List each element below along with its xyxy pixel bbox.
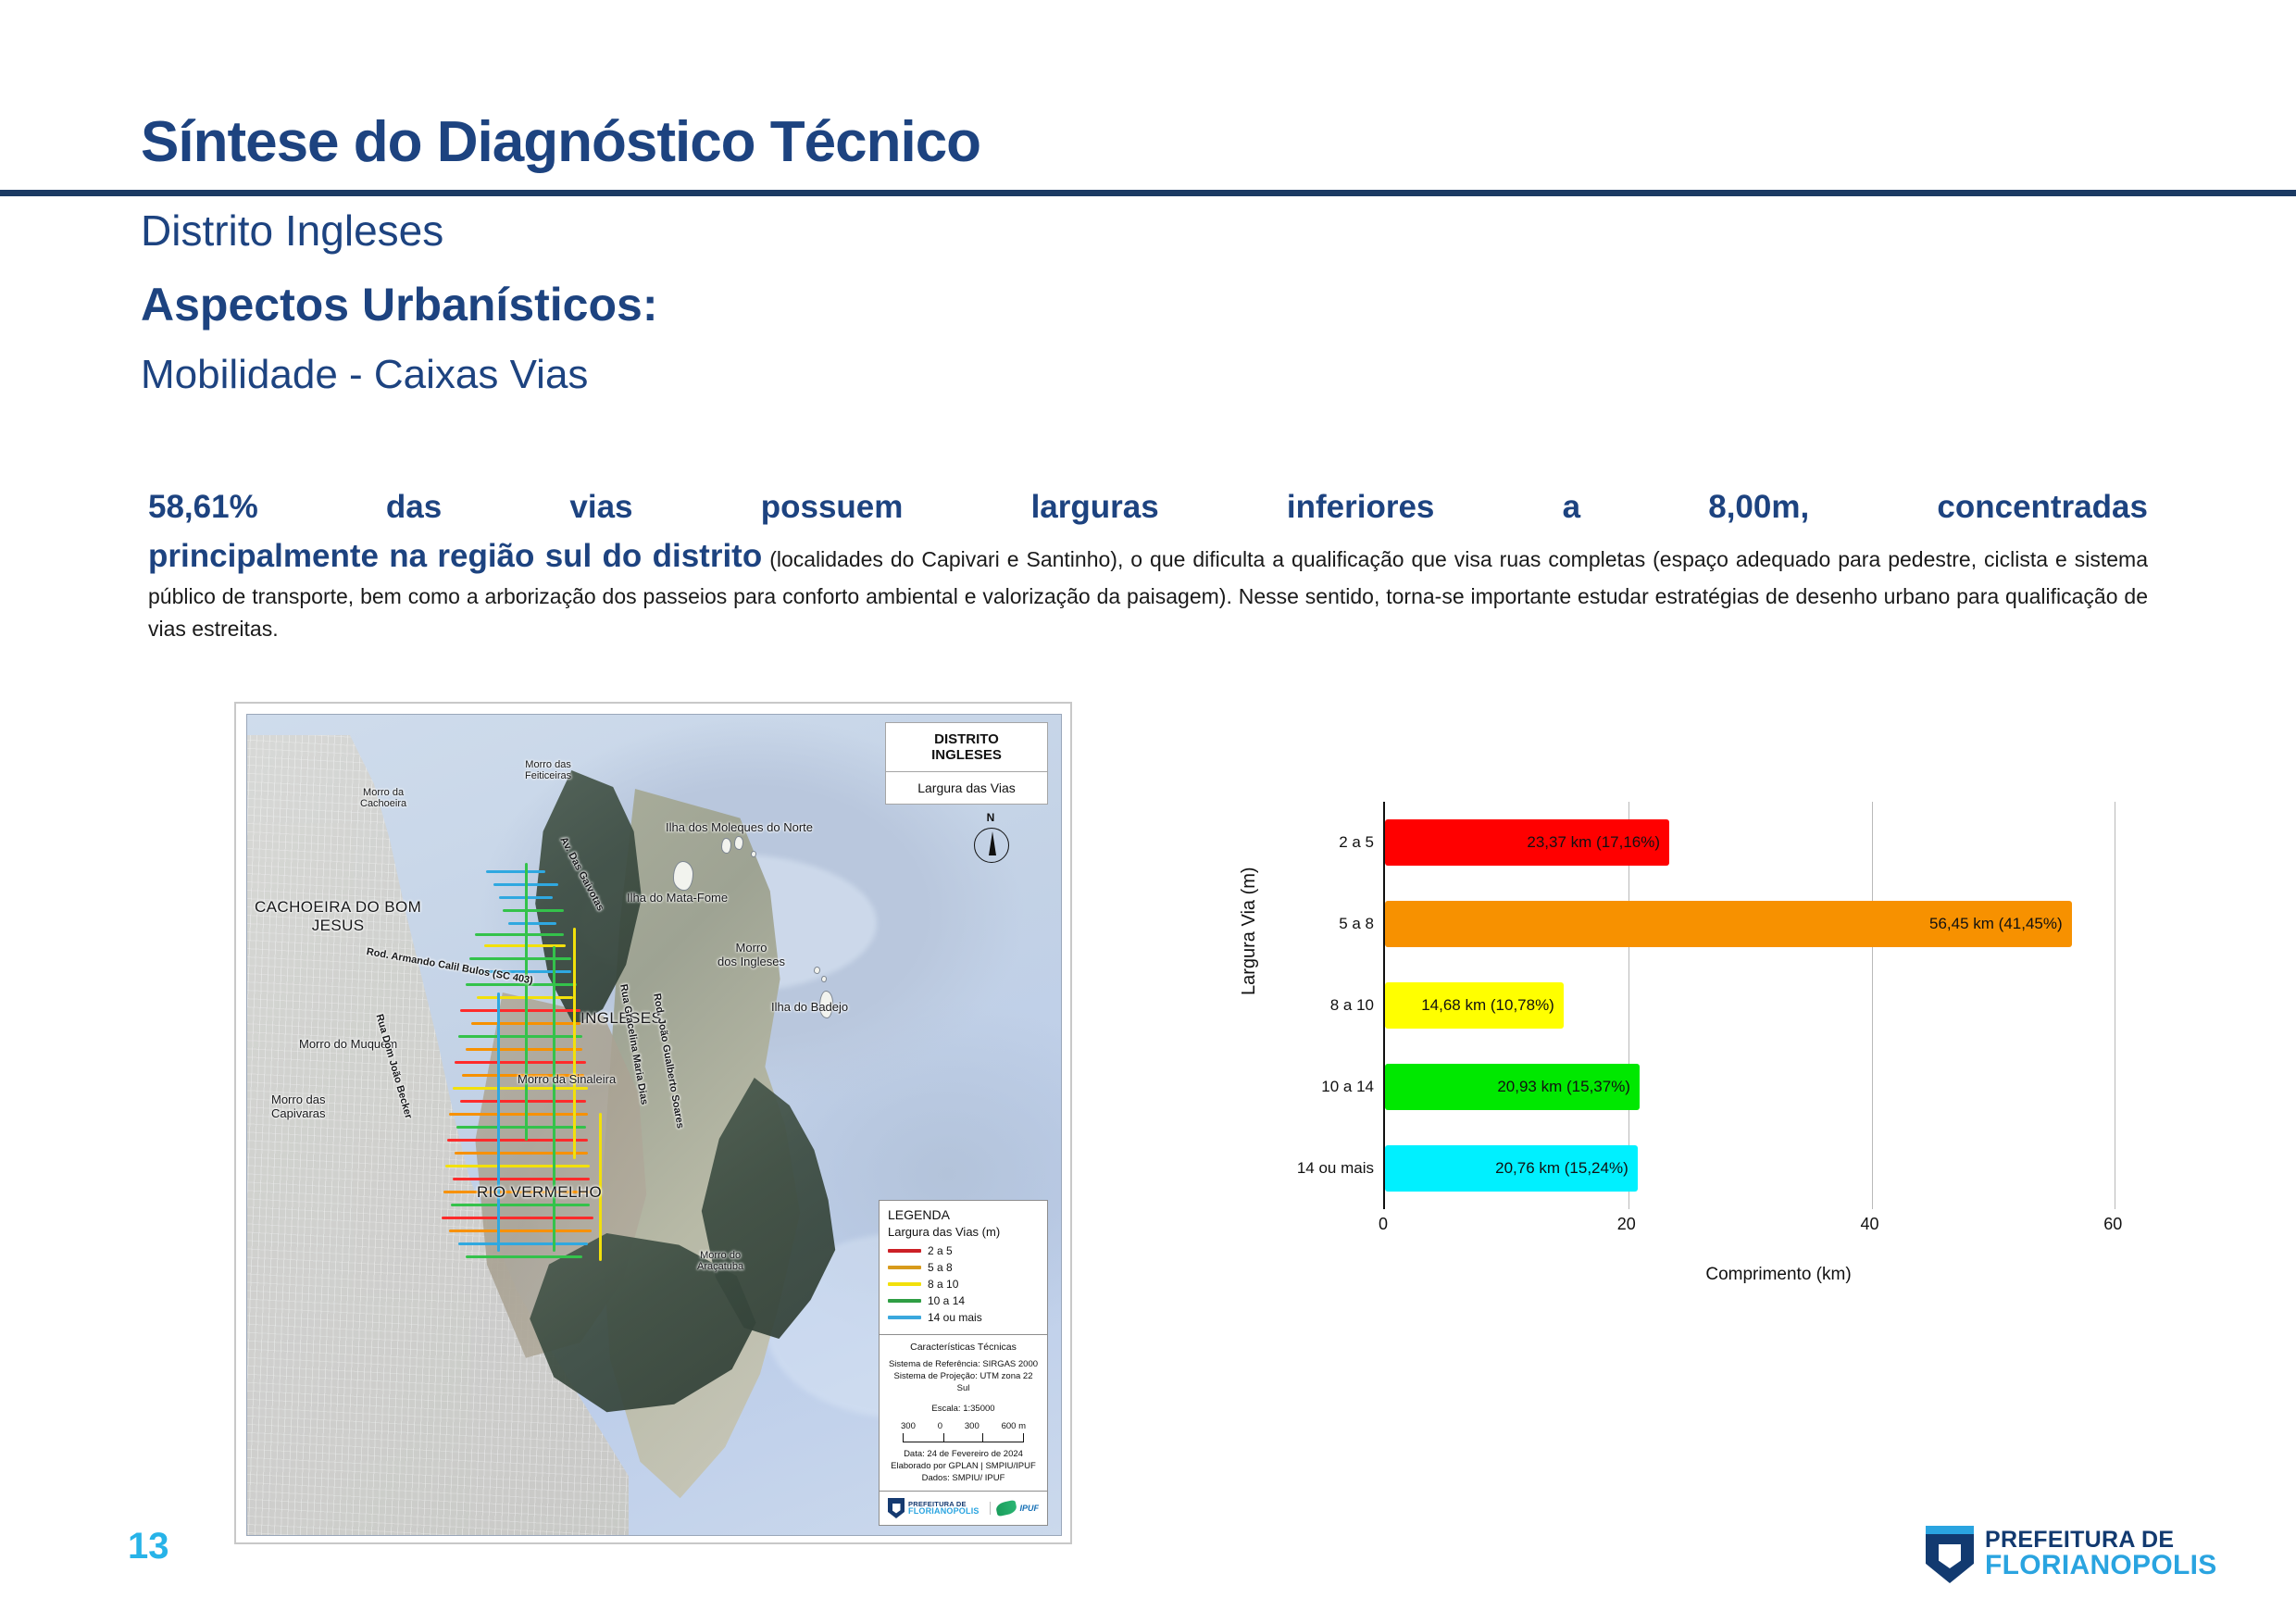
prefeitura-logo-line2: FLORIANOPOLIS bbox=[908, 1507, 980, 1516]
legend-technical-section: Características Técnicas Sistema de Refe… bbox=[880, 1335, 1047, 1492]
prefeitura-logo-text: PREFEITURA DE FLORIANOPOLIS bbox=[908, 1501, 980, 1517]
map-title: DISTRITO INGLESES bbox=[886, 723, 1047, 772]
legend-item: 5 a 8 bbox=[888, 1261, 1039, 1274]
section-subheading: Mobilidade - Caixas Vias bbox=[141, 352, 588, 398]
legend-color-swatch bbox=[888, 1316, 921, 1319]
map-title-box: DISTRITO INGLESES Largura das Vias bbox=[885, 722, 1048, 805]
legend-item-label: 10 a 14 bbox=[928, 1294, 965, 1307]
legend-item-label: 8 a 10 bbox=[928, 1278, 958, 1291]
chart-bar-value-label: 20,76 km (15,24%) bbox=[1495, 1159, 1638, 1178]
chart-x-axis: 0204060 bbox=[1383, 1209, 2174, 1210]
header-divider bbox=[0, 190, 2296, 196]
section-heading: Aspectos Urbanísticos: bbox=[141, 278, 657, 331]
legend-scale-bar: 300 0 300 600 m bbox=[888, 1421, 1039, 1442]
islet-badejo-c bbox=[819, 991, 833, 1018]
chart-x-tick: 60 bbox=[2103, 1215, 2122, 1234]
legend-item-list: 2 a 55 a 88 a 1010 a 1414 ou mais bbox=[888, 1244, 1039, 1324]
road-segment bbox=[503, 909, 564, 912]
islet-mata-fome bbox=[673, 861, 693, 891]
lead-statement-line1: 58,61% das vias possuem larguras inferio… bbox=[148, 483, 2148, 532]
legend-credit-line: Elaborado por GPLAN | SMPIU/IPUF bbox=[888, 1460, 1039, 1472]
road-segment bbox=[449, 1230, 592, 1232]
legend-item-label: 14 ou mais bbox=[928, 1311, 982, 1324]
legend-tech-line: Sistema de Projeção: UTM zona 22 Sul bbox=[888, 1370, 1039, 1394]
road-segment bbox=[486, 870, 545, 873]
road-segment bbox=[455, 1061, 586, 1064]
road-segment bbox=[458, 1242, 588, 1245]
chart-category-label: 8 a 10 bbox=[1330, 996, 1374, 1015]
map-panel[interactable]: DISTRITO INGLESES Largura das Vias N Mor… bbox=[234, 702, 1072, 1544]
legend-color-swatch bbox=[888, 1266, 921, 1269]
chart-x-tick: 0 bbox=[1379, 1215, 1388, 1234]
scale-num: 300 bbox=[965, 1421, 980, 1431]
road-segment bbox=[455, 1152, 588, 1155]
road-segment bbox=[466, 1255, 582, 1258]
legend-logo-section: PREFEITURA DE FLORIANOPOLIS IPUF bbox=[880, 1492, 1047, 1525]
road-arterial bbox=[525, 863, 528, 1141]
chart-bar-value-label: 23,37 km (17,16%) bbox=[1527, 833, 1669, 852]
road-segment bbox=[469, 957, 571, 960]
legend-title: LEGENDA bbox=[888, 1207, 1039, 1222]
chart-bar-row: 10 a 1420,93 km (15,37%) bbox=[1385, 1064, 2176, 1110]
legend-classes-section: LEGENDA Largura das Vias (m) 2 a 55 a 88… bbox=[880, 1201, 1047, 1335]
prefeitura-logo-mini: PREFEITURA DE FLORIANOPOLIS bbox=[888, 1498, 984, 1518]
chart-bar-row: 8 a 1014,68 km (10,78%) bbox=[1385, 982, 2176, 1029]
chart-bar-row: 5 a 856,45 km (41,45%) bbox=[1385, 901, 2176, 947]
legend-subtitle: Largura das Vias (m) bbox=[888, 1225, 1039, 1239]
road-segment bbox=[453, 1087, 588, 1090]
road-segment bbox=[456, 1126, 586, 1129]
legend-color-swatch bbox=[888, 1249, 921, 1253]
road-segment bbox=[445, 1165, 590, 1167]
chart-bar: 20,93 km (15,37%) bbox=[1385, 1064, 1640, 1110]
road-segment bbox=[460, 1100, 586, 1103]
chart-category-label: 14 ou mais bbox=[1297, 1159, 1374, 1178]
legend-scale-numbers: 300 0 300 600 m bbox=[888, 1421, 1039, 1431]
page-number: 13 bbox=[128, 1526, 169, 1567]
chart-bar: 23,37 km (17,16%) bbox=[1385, 819, 1669, 866]
road-arterial bbox=[497, 993, 500, 1252]
map-legend: LEGENDA Largura das Vias (m) 2 a 55 a 88… bbox=[879, 1200, 1048, 1526]
road-segment bbox=[458, 1035, 582, 1038]
road-segment bbox=[508, 922, 556, 925]
road-arterial bbox=[599, 1113, 602, 1261]
coat-of-arms-icon bbox=[888, 1498, 905, 1518]
coat-of-arms-icon bbox=[1926, 1526, 1974, 1583]
islet-badejo-b bbox=[821, 976, 827, 982]
road-segment bbox=[442, 1217, 593, 1219]
scale-ruler bbox=[903, 1433, 1024, 1442]
chart-bar-value-label: 14,68 km (10,78%) bbox=[1421, 996, 1564, 1015]
road-segment bbox=[466, 983, 577, 986]
islet-moleques-b bbox=[734, 836, 743, 850]
chart-category-label: 10 a 14 bbox=[1321, 1078, 1374, 1096]
map-subtitle: Largura das Vias bbox=[886, 772, 1047, 804]
legend-tech-header: Características Técnicas bbox=[888, 1342, 1039, 1353]
legend-item-label: 5 a 8 bbox=[928, 1261, 953, 1274]
prefeitura-logo-text: PREFEITURA DE FLORIANOPOLIS bbox=[1985, 1529, 2217, 1580]
north-needle bbox=[989, 831, 996, 855]
lead-statement-line2: principalmente na região sul do distrito bbox=[148, 538, 762, 574]
islet-badejo-a bbox=[814, 967, 820, 974]
road-segment bbox=[447, 1139, 588, 1142]
chart-bar-value-label: 20,93 km (15,37%) bbox=[1497, 1078, 1640, 1096]
legend-scale-text: Escala: 1:35000 bbox=[888, 1403, 1039, 1415]
road-segment bbox=[449, 1113, 588, 1116]
chart-bar-row: 14 ou mais20,76 km (15,24%) bbox=[1385, 1145, 2176, 1192]
legend-credit-line: Dados: SMPIU/ IPUF bbox=[888, 1472, 1039, 1484]
ipuf-logo: IPUF bbox=[990, 1502, 1039, 1515]
footer-logo-line1: PREFEITURA DE bbox=[1985, 1529, 2217, 1553]
legend-color-swatch bbox=[888, 1282, 921, 1286]
map-title-line2: INGLESES bbox=[931, 747, 1002, 763]
chart-y-axis-label: Largura Via (m) bbox=[1239, 867, 1260, 995]
road-arterial bbox=[573, 928, 576, 1159]
north-label: N bbox=[987, 811, 995, 824]
map-canvas[interactable]: DISTRITO INGLESES Largura das Vias N Mor… bbox=[246, 714, 1062, 1536]
islet-moleques-c bbox=[751, 851, 756, 857]
footer-logo-line2: FLORIANOPOLIS bbox=[1985, 1552, 2217, 1580]
legend-item: 8 a 10 bbox=[888, 1278, 1039, 1291]
road-segment bbox=[462, 1074, 584, 1077]
chart-x-tick: 20 bbox=[1617, 1215, 1636, 1234]
road-segment bbox=[460, 1009, 580, 1012]
legend-tech-line: Sistema de Referência: SIRGAS 2000 bbox=[888, 1358, 1039, 1370]
road-segment bbox=[466, 1048, 582, 1051]
ipuf-logo-text: IPUF bbox=[1019, 1504, 1039, 1513]
road-segment bbox=[451, 1204, 590, 1206]
page-title: Síntese do Diagnóstico Técnico bbox=[141, 109, 980, 175]
chart-x-axis-label: Comprimento (km) bbox=[1383, 1265, 2174, 1285]
road-segment bbox=[443, 1191, 592, 1193]
islet-moleques-a bbox=[721, 838, 731, 854]
chart-category-label: 2 a 5 bbox=[1339, 833, 1374, 852]
chart-category-label: 5 a 8 bbox=[1339, 915, 1374, 933]
north-arrow-icon: N bbox=[967, 813, 1015, 867]
road-segment bbox=[453, 1178, 590, 1180]
scale-num: 300 bbox=[901, 1421, 916, 1431]
chart-panel: Largura Via (m) 2 a 523,37 km (17,16%)5 … bbox=[1231, 796, 2194, 1352]
summary-paragraph: 58,61% das vias possuem larguras inferio… bbox=[148, 483, 2148, 644]
ipuf-swoosh-icon bbox=[995, 1500, 1017, 1517]
road-segment bbox=[475, 933, 564, 936]
legend-tech-lines: Sistema de Referência: SIRGAS 2000 Siste… bbox=[888, 1358, 1039, 1394]
chart-bar-value-label: 56,45 km (41,45%) bbox=[1929, 915, 2072, 933]
map-title-line1: DISTRITO bbox=[934, 731, 999, 747]
legend-color-swatch bbox=[888, 1299, 921, 1303]
scale-num: 0 bbox=[938, 1421, 942, 1431]
legend-item-label: 2 a 5 bbox=[928, 1244, 953, 1257]
chart-plot-area: 2 a 523,37 km (17,16%)5 a 856,45 km (41,… bbox=[1383, 802, 2174, 1209]
chart-bar: 14,68 km (10,78%) bbox=[1385, 982, 1564, 1029]
chart-x-tick: 40 bbox=[1861, 1215, 1879, 1234]
legend-credit-line: Data: 24 de Fevereiro de 2024 bbox=[888, 1448, 1039, 1460]
legend-item: 10 a 14 bbox=[888, 1294, 1039, 1307]
scale-num: 600 m bbox=[1002, 1421, 1026, 1431]
chart-bar-row: 2 a 523,37 km (17,16%) bbox=[1385, 819, 2176, 866]
legend-item: 14 ou mais bbox=[888, 1311, 1039, 1324]
prefeitura-footer-logo: PREFEITURA DE FLORIANOPOLIS bbox=[1926, 1526, 2217, 1583]
legend-item: 2 a 5 bbox=[888, 1244, 1039, 1257]
chart-bar: 56,45 km (41,45%) bbox=[1385, 901, 2072, 947]
legend-credits: Data: 24 de Fevereiro de 2024 Elaborado … bbox=[888, 1448, 1039, 1484]
district-subtitle: Distrito Ingleses bbox=[141, 206, 443, 256]
chart-bar: 20,76 km (15,24%) bbox=[1385, 1145, 1638, 1192]
road-arterial bbox=[553, 946, 555, 1252]
